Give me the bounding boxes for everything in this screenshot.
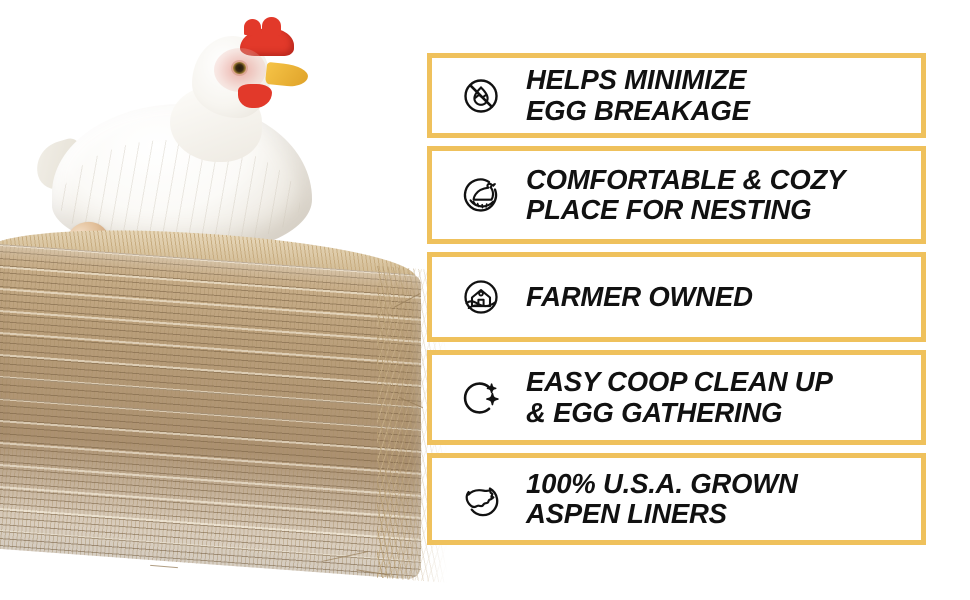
loose-aspen-fiber [150,565,178,568]
barn-icon [456,272,506,322]
feature-row-usa-grown[interactable]: 100% U.S.A. GROWN ASPEN LINERS [427,453,926,545]
usa-map-icon [456,474,506,524]
feature-label: EASY COOP CLEAN UP & EGG GATHERING [526,367,833,428]
feature-list: HELPS MINIMIZE EGG BREAKAGE COMFORTABLE … [427,53,926,545]
aspen-liner-stack [0,243,421,580]
feature-label: FARMER OWNED [526,282,753,312]
no-broken-egg-icon [456,71,506,121]
sparkle-clean-icon [456,373,506,423]
product-photo [0,0,425,600]
feature-label: HELPS MINIMIZE EGG BREAKAGE [526,65,750,126]
feature-row-egg-breakage[interactable]: HELPS MINIMIZE EGG BREAKAGE [427,53,926,138]
nesting-hen-icon [456,170,506,220]
feature-row-easy-cleanup[interactable]: EASY COOP CLEAN UP & EGG GATHERING [427,350,926,445]
hen-wattle [238,84,272,108]
product-feature-banner: HELPS MINIMIZE EGG BREAKAGE COMFORTABLE … [0,0,970,600]
feature-row-farmer-owned[interactable]: FARMER OWNED [427,252,926,342]
feature-row-cozy-nesting[interactable]: COMFORTABLE & COZY PLACE FOR NESTING [427,146,926,244]
hen-beak [265,62,309,88]
feature-label: 100% U.S.A. GROWN ASPEN LINERS [526,469,798,530]
feature-label: COMFORTABLE & COZY PLACE FOR NESTING [526,165,845,226]
hen-eye [233,62,246,74]
